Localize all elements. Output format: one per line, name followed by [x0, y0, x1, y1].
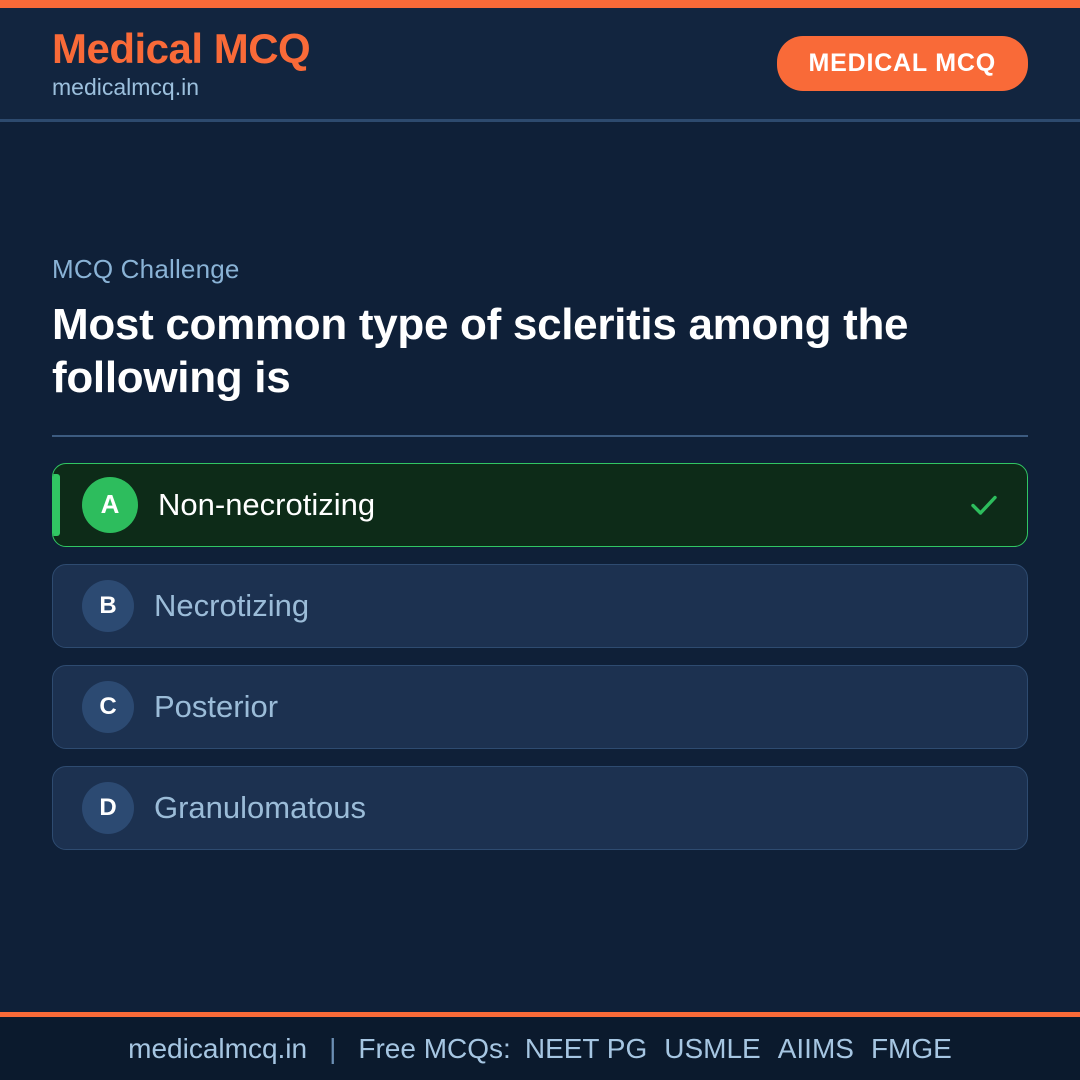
- footer-separator: |: [321, 1033, 344, 1065]
- divider: [52, 435, 1028, 437]
- option-label: Necrotizing: [154, 589, 1001, 623]
- option-c[interactable]: C Posterior: [52, 665, 1028, 749]
- option-letter-badge: D: [82, 782, 134, 834]
- footer-tag-usmle[interactable]: USMLE: [664, 1033, 760, 1065]
- brand-url: medicalmcq.in: [52, 76, 310, 99]
- mcq-card-page: Medical MCQ medicalmcq.in MEDICAL MCQ MC…: [0, 0, 1080, 1080]
- footer-tag-aiims[interactable]: AIIMS: [778, 1033, 854, 1065]
- main-content: MCQ Challenge Most common type of scleri…: [0, 122, 1080, 1012]
- eyebrow-label: MCQ Challenge: [52, 254, 1028, 285]
- footer-exam-tags: NEET PG USMLE AIIMS FMGE: [525, 1033, 952, 1065]
- footer-content: medicalmcq.in | Free MCQs: NEET PG USMLE…: [128, 1033, 952, 1065]
- option-b[interactable]: B Necrotizing: [52, 564, 1028, 648]
- footer-tag-fmge[interactable]: FMGE: [871, 1033, 952, 1065]
- option-letter-badge: C: [82, 681, 134, 733]
- footer-tag-neetpg[interactable]: NEET PG: [525, 1033, 647, 1065]
- brand-title: Medical MCQ: [52, 28, 310, 70]
- option-label: Posterior: [154, 690, 1001, 724]
- option-label: Granulomatous: [154, 791, 1001, 825]
- option-label: Non-necrotizing: [158, 488, 967, 522]
- check-icon: [967, 488, 1001, 522]
- top-accent-bar: [0, 0, 1080, 8]
- options-list: A Non-necrotizing B Necrotizing C Poster…: [52, 463, 1028, 850]
- brand: Medical MCQ medicalmcq.in: [52, 28, 310, 99]
- option-letter-badge: A: [82, 477, 138, 533]
- footer-prefix: Free MCQs:: [358, 1033, 510, 1065]
- page-header: Medical MCQ medicalmcq.in MEDICAL MCQ: [0, 8, 1080, 122]
- option-a[interactable]: A Non-necrotizing: [52, 463, 1028, 547]
- page-footer: medicalmcq.in | Free MCQs: NEET PG USMLE…: [0, 1012, 1080, 1080]
- option-letter-badge: B: [82, 580, 134, 632]
- page-title: Most common type of scleritis among the …: [52, 299, 952, 405]
- question-block: MCQ Challenge Most common type of scleri…: [52, 254, 1028, 850]
- option-d[interactable]: D Granulomatous: [52, 766, 1028, 850]
- footer-site[interactable]: medicalmcq.in: [128, 1033, 307, 1065]
- header-badge: MEDICAL MCQ: [777, 36, 1029, 91]
